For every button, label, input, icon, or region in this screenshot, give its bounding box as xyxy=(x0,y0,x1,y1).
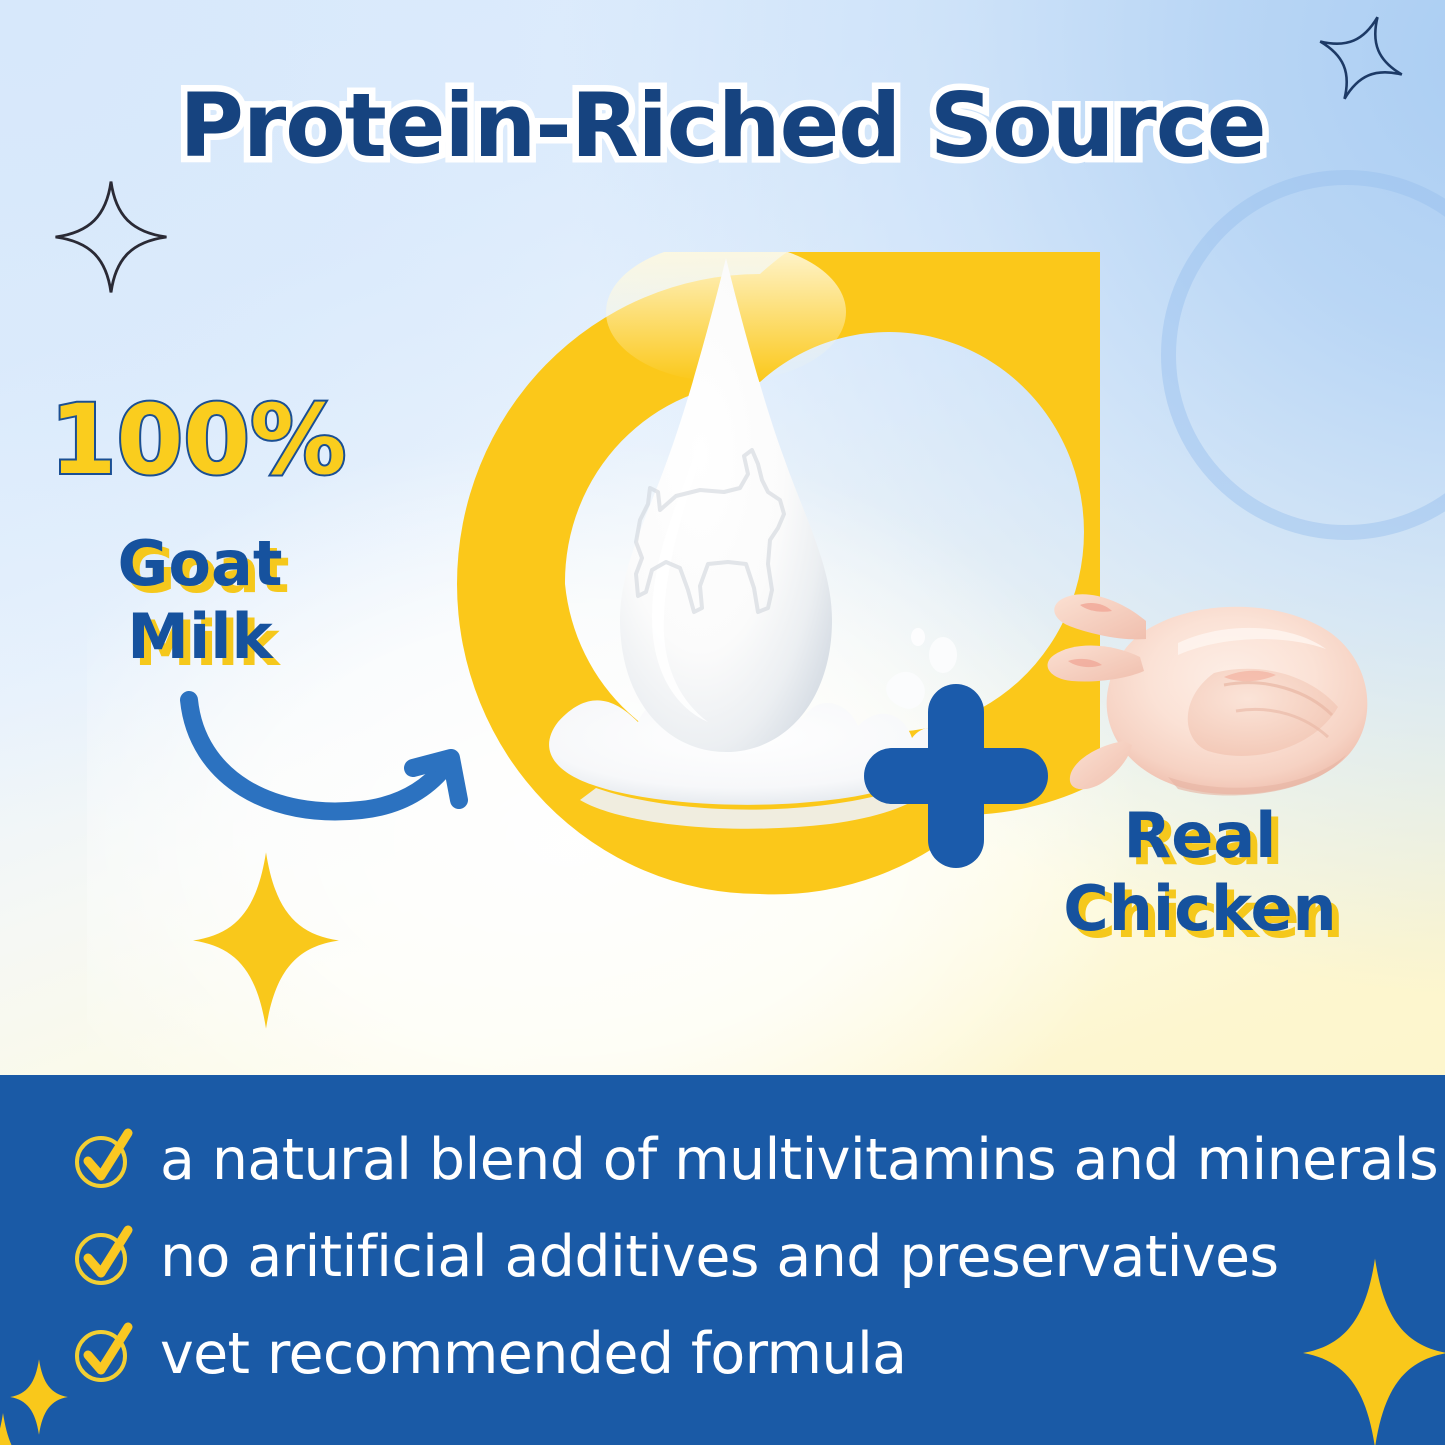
benefit-text: vet recommended formula xyxy=(160,1326,907,1383)
real-chicken-line2: Chicken xyxy=(1000,873,1400,946)
curved-arrow-icon xyxy=(175,682,495,832)
star-solid-icon xyxy=(0,1411,58,1445)
benefits-band: a natural blend of multivitamins and min… xyxy=(0,1075,1445,1445)
benefit-text: no aritificial additives and preservativ… xyxy=(160,1229,1279,1286)
benefits-list: a natural blend of multivitamins and min… xyxy=(72,1121,1402,1412)
product-infographic: Protein-Riched Source xyxy=(0,0,1445,1445)
goat-milk-label: Goat Milk xyxy=(60,528,340,673)
list-item: no aritificial additives and preservativ… xyxy=(72,1218,1402,1296)
check-circle-icon xyxy=(72,1323,134,1385)
real-chicken-line1: Real xyxy=(1000,800,1400,873)
star-outline-icon xyxy=(52,178,170,296)
raw-chicken-photo xyxy=(1028,565,1398,815)
real-chicken-label: Real Chicken xyxy=(1000,800,1400,945)
list-item: vet recommended formula xyxy=(72,1315,1402,1393)
check-circle-icon xyxy=(72,1129,134,1191)
check-circle-icon xyxy=(72,1226,134,1288)
percent-label: 100% xyxy=(28,392,368,488)
benefit-text: a natural blend of multivitamins and min… xyxy=(160,1132,1438,1189)
list-item: a natural blend of multivitamins and min… xyxy=(72,1121,1402,1199)
goat-milk-line2: Milk xyxy=(60,601,340,674)
goat-milk-line1: Goat xyxy=(60,528,340,601)
star-solid-icon xyxy=(190,848,342,1033)
page-title: Protein-Riched Source xyxy=(0,74,1445,177)
